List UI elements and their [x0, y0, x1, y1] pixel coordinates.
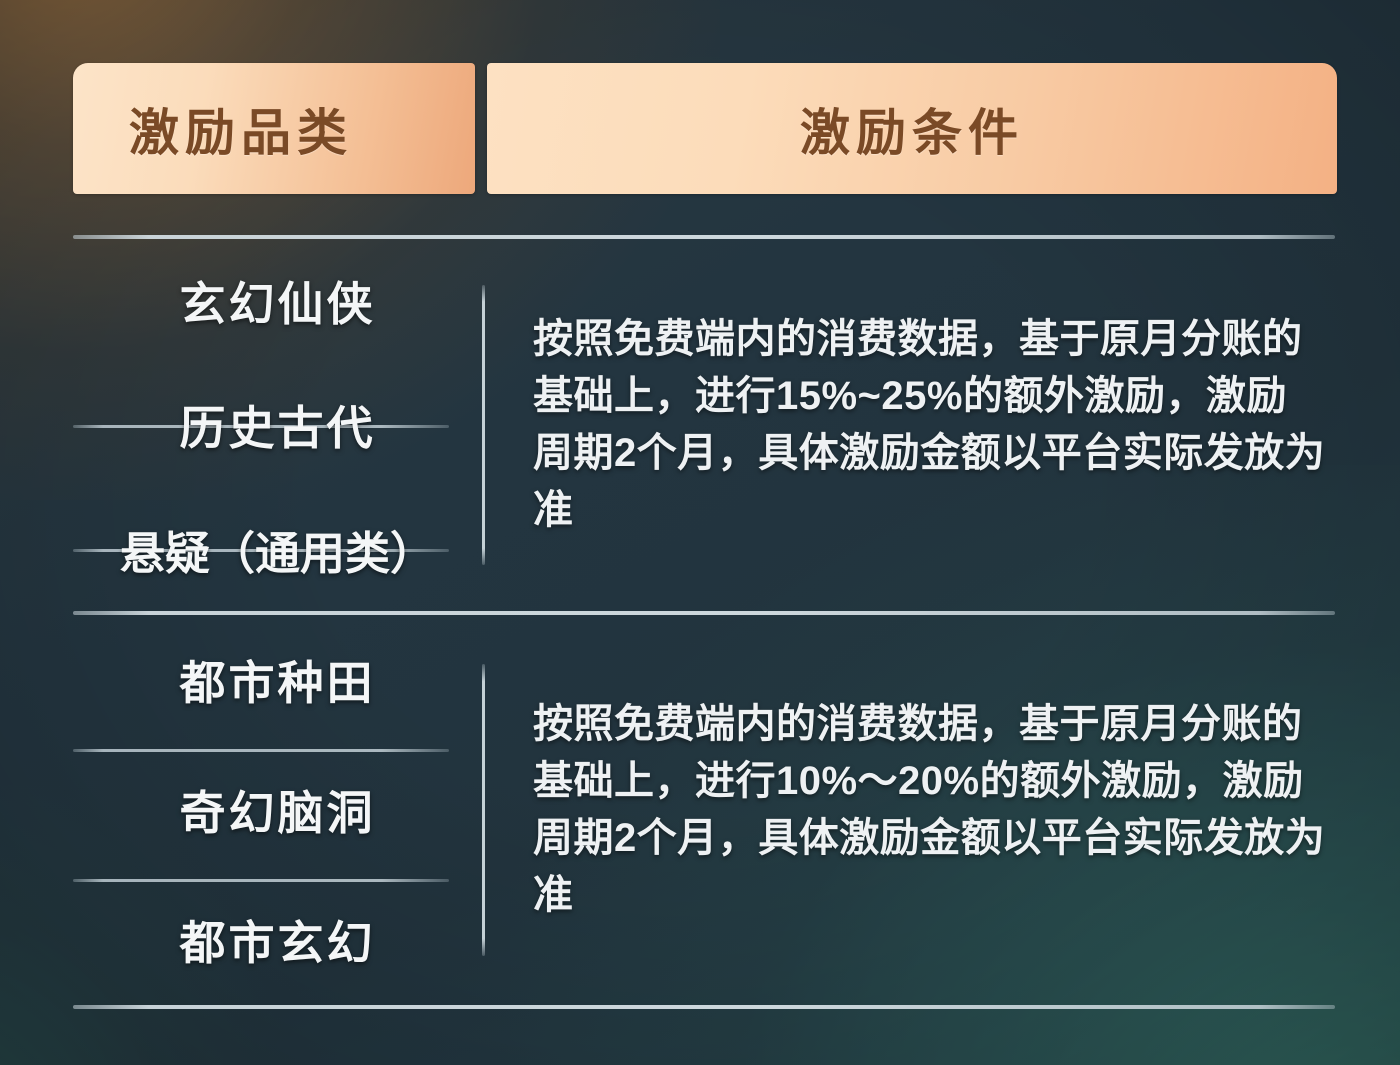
table-header-row: 激励品类 激励条件 — [73, 63, 1337, 194]
condition-column-1: 按照免费端内的消费数据，基于原月分账的基础上，进行15%~25%的额外激励，激励… — [485, 239, 1337, 611]
divider-bottom — [73, 1005, 1335, 1009]
category-label: 玄幻仙侠 — [180, 268, 376, 334]
category-label: 历史古代 — [180, 392, 376, 458]
category-label: 悬疑（通用类） — [120, 517, 435, 582]
incentive-table: 激励品类 激励条件 玄幻仙侠 历史古代 悬疑（通用类） 按照免费端内的消费数据，… — [73, 63, 1337, 1009]
table-group-1: 玄幻仙侠 历史古代 悬疑（通用类） 按照免费端内的消费数据，基于原月分账的基础上… — [73, 239, 1337, 611]
category-cell[interactable]: 奇幻脑洞 — [73, 745, 482, 875]
category-cell[interactable]: 悬疑（通用类） — [73, 487, 482, 611]
header-condition-label: 激励条件 — [800, 93, 1024, 165]
condition-column-2: 按照免费端内的消费数据，基于原月分账的基础上，进行10%～20%的额外激励，激励… — [485, 615, 1337, 1005]
header-cell-condition: 激励条件 — [487, 63, 1337, 194]
header-cell-gap — [475, 63, 487, 194]
condition-text: 按照免费端内的消费数据，基于原月分账的基础上，进行10%～20%的额外激励，激励… — [533, 696, 1327, 923]
table-group-2: 都市种田 奇幻脑洞 都市玄幻 按照免费端内的消费数据，基于原月分账的基础上，进行… — [73, 615, 1337, 1005]
header-cell-category: 激励品类 — [73, 63, 475, 194]
category-cell[interactable]: 都市种田 — [73, 615, 482, 745]
category-column-2: 都市种田 奇幻脑洞 都市玄幻 — [73, 615, 482, 1005]
category-column-1: 玄幻仙侠 历史古代 悬疑（通用类） — [73, 239, 482, 611]
header-category-label: 激励品类 — [129, 93, 353, 165]
category-label: 都市玄幻 — [180, 907, 376, 973]
category-label: 都市种田 — [180, 647, 376, 713]
category-cell[interactable]: 历史古代 — [73, 363, 482, 487]
category-cell[interactable]: 都市玄幻 — [73, 875, 482, 1005]
condition-text: 按照免费端内的消费数据，基于原月分账的基础上，进行15%~25%的额外激励，激励… — [533, 311, 1327, 538]
category-cell[interactable]: 玄幻仙侠 — [73, 239, 482, 363]
category-label: 奇幻脑洞 — [180, 777, 376, 843]
